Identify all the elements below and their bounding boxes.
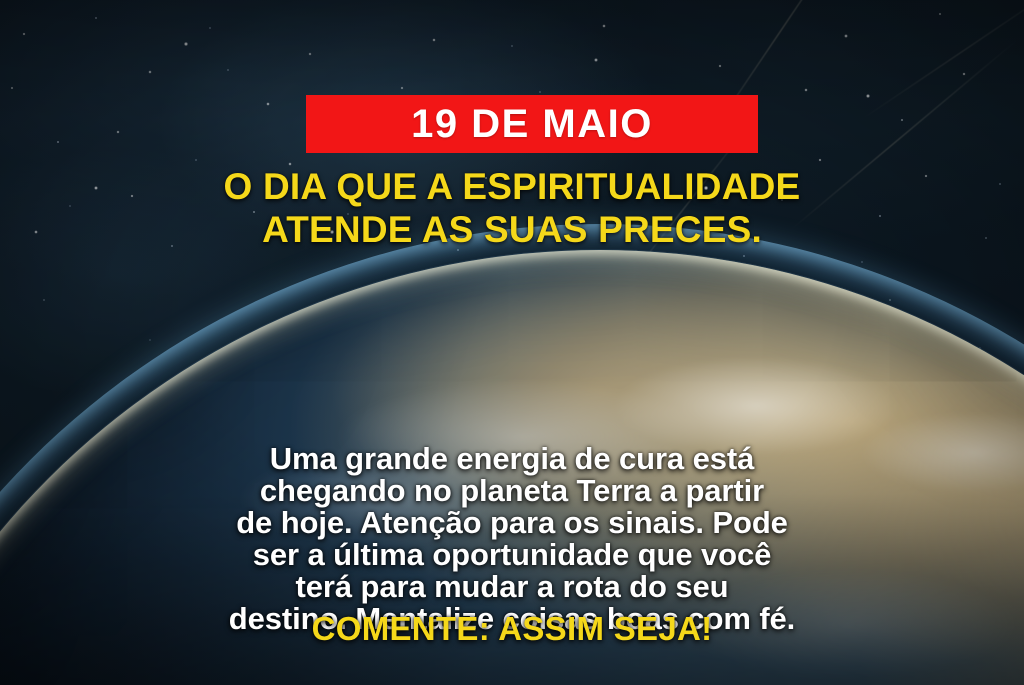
body-line-4: ser a última oportunidade que você bbox=[0, 539, 1024, 571]
call-to-action-label: COMENTE: ASSIM SEJA! bbox=[0, 612, 1024, 645]
headline-line-1: O DIA QUE A ESPIRITUALIDADE bbox=[0, 165, 1024, 208]
poster-canvas: 19 DE MAIO O DIA QUE A ESPIRITUALIDADE A… bbox=[0, 0, 1024, 685]
body-line-3: de hoje. Atenção para os sinais. Pode bbox=[0, 507, 1024, 539]
date-banner-label: 19 DE MAIO bbox=[411, 104, 653, 144]
date-banner: 19 DE MAIO bbox=[306, 95, 758, 153]
headline-line-2: ATENDE AS SUAS PRECES. bbox=[0, 208, 1024, 251]
headline: O DIA QUE A ESPIRITUALIDADE ATENDE AS SU… bbox=[0, 165, 1024, 252]
body-line-2: chegando no planeta Terra a partir bbox=[0, 475, 1024, 507]
poster-content: 19 DE MAIO O DIA QUE A ESPIRITUALIDADE A… bbox=[0, 0, 1024, 685]
body-line-1: Uma grande energia de cura está bbox=[0, 443, 1024, 475]
body-line-5: terá para mudar a rota do seu bbox=[0, 571, 1024, 603]
body-copy: Uma grande energia de cura está chegando… bbox=[0, 443, 1024, 635]
